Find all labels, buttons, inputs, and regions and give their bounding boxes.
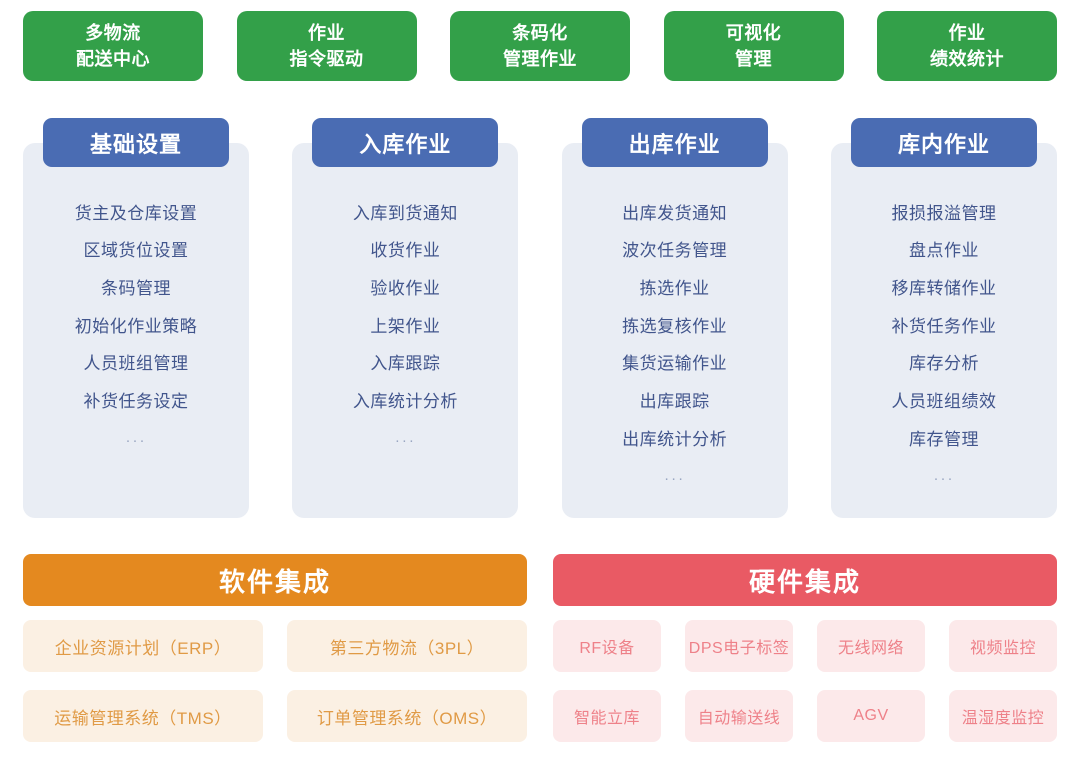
module-list-item[interactable]: 库存管理 — [909, 421, 979, 459]
module-card-row: 基础设置 货主及仓库设置 区域货位设置 条码管理 初始化作业策略 人员班组管理 … — [23, 143, 1057, 518]
module-list-more-ellipsis: ··· — [664, 459, 685, 497]
module-list-item[interactable]: 入库到货通知 — [353, 195, 458, 233]
module-item-list: 出库发货通知 波次任务管理 拣选作业 拣选复核作业 集货运输作业 出库跟踪 出库… — [562, 191, 788, 497]
hardware-item-rf-device[interactable]: RF设备 — [553, 620, 661, 672]
hardware-item-agv[interactable]: AGV — [817, 690, 925, 742]
hardware-item-smart-warehouse[interactable]: 智能立库 — [553, 690, 661, 742]
module-list-item[interactable]: 补货任务作业 — [891, 308, 996, 346]
diagram-canvas: 多物流 配送中心 作业 指令驱动 条码化 管理作业 可视化 管理 作业 绩效统计… — [0, 0, 1080, 759]
module-list-item[interactable]: 初始化作业策略 — [75, 308, 198, 346]
module-list-item[interactable]: 出库统计分析 — [622, 421, 727, 459]
module-list-item[interactable]: 收货作业 — [370, 233, 440, 271]
feature-pill-line2: 配送中心 — [76, 46, 150, 72]
module-list-item[interactable]: 波次任务管理 — [622, 233, 727, 271]
feature-pill-performance[interactable]: 作业 绩效统计 — [877, 11, 1057, 81]
module-card-in-warehouse: 库内作业 报损报溢管理 盘点作业 移库转储作业 补货任务作业 库存分析 人员班组… — [831, 143, 1057, 518]
module-card-outbound: 出库作业 出库发货通知 波次任务管理 拣选作业 拣选复核作业 集货运输作业 出库… — [562, 143, 788, 518]
module-list-item[interactable]: 入库统计分析 — [353, 383, 458, 421]
software-item-oms[interactable]: 订单管理系统（OMS） — [287, 690, 527, 742]
software-integration-grid: 企业资源计划（ERP） 第三方物流（3PL） 运输管理系统（TMS） 订单管理系… — [23, 620, 527, 742]
module-list-item[interactable]: 区域货位设置 — [84, 233, 189, 271]
hardware-integration-grid: RF设备 DPS电子标签 无线网络 视频监控 智能立库 自动输送线 AGV 温湿… — [553, 620, 1057, 742]
module-list-more-ellipsis: ··· — [126, 421, 147, 459]
feature-pill-line2: 管理 — [735, 46, 772, 72]
feature-pill-line1: 作业 — [949, 20, 986, 46]
module-card-inbound: 入库作业 入库到货通知 收货作业 验收作业 上架作业 入库跟踪 入库统计分析 ·… — [292, 143, 518, 518]
feature-pill-line2: 管理作业 — [503, 46, 577, 72]
module-list-item[interactable]: 货主及仓库设置 — [75, 195, 198, 233]
hardware-item-video-surveillance[interactable]: 视频监控 — [949, 620, 1057, 672]
module-list-item[interactable]: 出库发货通知 — [622, 195, 727, 233]
hardware-item-dps-tag[interactable]: DPS电子标签 — [685, 620, 793, 672]
module-item-list: 货主及仓库设置 区域货位设置 条码管理 初始化作业策略 人员班组管理 补货任务设… — [23, 191, 249, 459]
hardware-item-wireless-network[interactable]: 无线网络 — [817, 620, 925, 672]
module-list-item[interactable]: 集货运输作业 — [622, 346, 727, 384]
feature-pill-line2: 绩效统计 — [930, 46, 1004, 72]
module-list-item[interactable]: 人员班组绩效 — [891, 383, 996, 421]
software-item-3pl[interactable]: 第三方物流（3PL） — [287, 620, 527, 672]
module-list-item[interactable]: 验收作业 — [370, 270, 440, 308]
feature-pill-line2: 指令驱动 — [290, 46, 364, 72]
software-item-erp[interactable]: 企业资源计划（ERP） — [23, 620, 263, 672]
module-list-item[interactable]: 拣选复核作业 — [622, 308, 727, 346]
module-card-basic-setup: 基础设置 货主及仓库设置 区域货位设置 条码管理 初始化作业策略 人员班组管理 … — [23, 143, 249, 518]
software-integration-panel: 软件集成 企业资源计划（ERP） 第三方物流（3PL） 运输管理系统（TMS） … — [23, 554, 527, 744]
module-title-basic-setup[interactable]: 基础设置 — [43, 118, 229, 167]
module-list-item[interactable]: 人员班组管理 — [84, 346, 189, 384]
module-list-item[interactable]: 补货任务设定 — [84, 383, 189, 421]
module-list-item[interactable]: 盘点作业 — [909, 233, 979, 271]
feature-pill-visualization[interactable]: 可视化 管理 — [664, 11, 844, 81]
software-integration-title: 软件集成 — [23, 554, 527, 606]
feature-pill-line1: 条码化 — [512, 20, 568, 46]
feature-pill-multi-dc[interactable]: 多物流 配送中心 — [23, 11, 203, 81]
module-item-list: 入库到货通知 收货作业 验收作业 上架作业 入库跟踪 入库统计分析 ··· — [292, 191, 518, 459]
module-title-in-warehouse[interactable]: 库内作业 — [851, 118, 1037, 167]
hardware-item-conveyor[interactable]: 自动输送线 — [685, 690, 793, 742]
feature-pill-line1: 可视化 — [726, 20, 782, 46]
module-title-outbound[interactable]: 出库作业 — [582, 118, 768, 167]
feature-pill-task-driven[interactable]: 作业 指令驱动 — [237, 11, 417, 81]
module-list-item[interactable]: 条码管理 — [101, 270, 171, 308]
hardware-integration-title: 硬件集成 — [553, 554, 1057, 606]
module-list-item[interactable]: 拣选作业 — [640, 270, 710, 308]
module-list-item[interactable]: 报损报溢管理 — [891, 195, 996, 233]
software-item-tms[interactable]: 运输管理系统（TMS） — [23, 690, 263, 742]
module-list-more-ellipsis: ··· — [395, 421, 416, 459]
feature-pill-line1: 多物流 — [85, 20, 141, 46]
hardware-integration-panel: 硬件集成 RF设备 DPS电子标签 无线网络 视频监控 智能立库 自动输送线 A… — [553, 554, 1057, 744]
module-list-more-ellipsis: ··· — [933, 459, 954, 497]
module-list-item[interactable]: 库存分析 — [909, 346, 979, 384]
module-list-item[interactable]: 出库跟踪 — [640, 383, 710, 421]
feature-pill-barcode[interactable]: 条码化 管理作业 — [450, 11, 630, 81]
module-list-item[interactable]: 移库转储作业 — [891, 270, 996, 308]
module-list-item[interactable]: 上架作业 — [370, 308, 440, 346]
module-item-list: 报损报溢管理 盘点作业 移库转储作业 补货任务作业 库存分析 人员班组绩效 库存… — [831, 191, 1057, 497]
feature-pill-line1: 作业 — [308, 20, 345, 46]
hardware-item-temp-humidity[interactable]: 温湿度监控 — [949, 690, 1057, 742]
module-title-inbound[interactable]: 入库作业 — [312, 118, 498, 167]
feature-pill-row: 多物流 配送中心 作业 指令驱动 条码化 管理作业 可视化 管理 作业 绩效统计 — [23, 11, 1057, 81]
module-list-item[interactable]: 入库跟踪 — [370, 346, 440, 384]
integration-row: 软件集成 企业资源计划（ERP） 第三方物流（3PL） 运输管理系统（TMS） … — [23, 554, 1057, 744]
